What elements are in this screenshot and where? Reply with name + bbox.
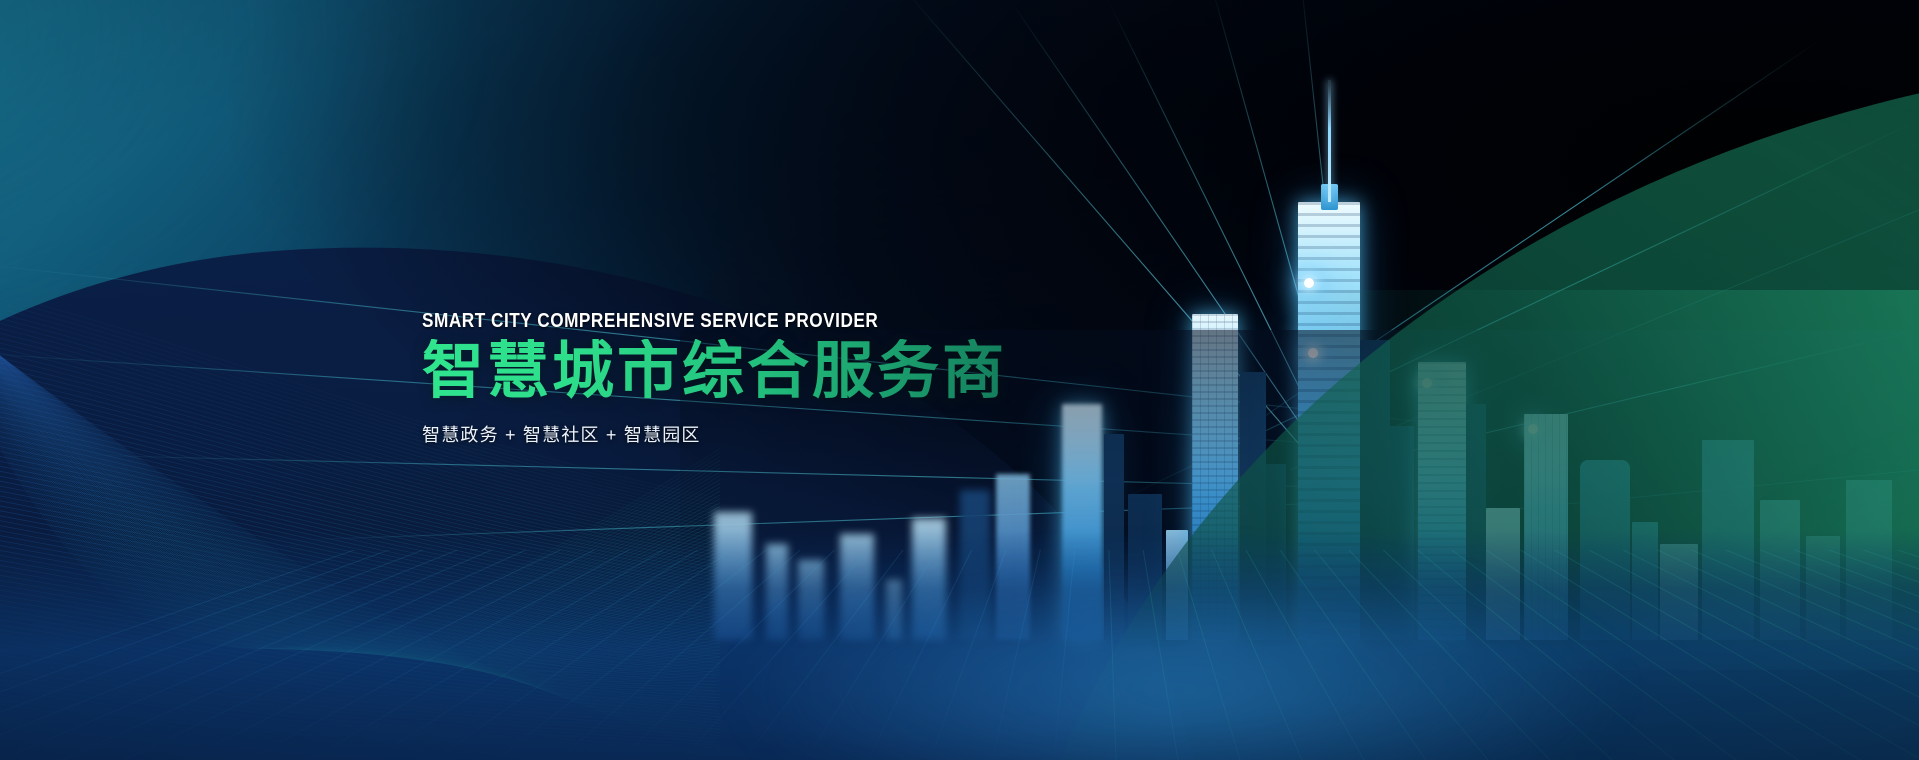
hero-headline: 智慧城市综合服务商 [422, 339, 1122, 405]
hero-subline: 智慧政务 + 智慧社区 + 智慧园区 [422, 421, 1122, 447]
hero-copy-block: SMART CITY COMPREHENSIVE SERVICE PROVIDE… [422, 310, 1122, 447]
tower-sparkle [1304, 278, 1314, 288]
landmark-tower-spire [1328, 80, 1331, 202]
tower-sparkle [1308, 348, 1318, 358]
smart-city-hero-banner: SMART CITY COMPREHENSIVE SERVICE PROVIDE… [0, 0, 1919, 760]
hero-eyebrow: SMART CITY COMPREHENSIVE SERVICE PROVIDE… [422, 310, 1024, 333]
ground-light-glow [729, 560, 1629, 760]
